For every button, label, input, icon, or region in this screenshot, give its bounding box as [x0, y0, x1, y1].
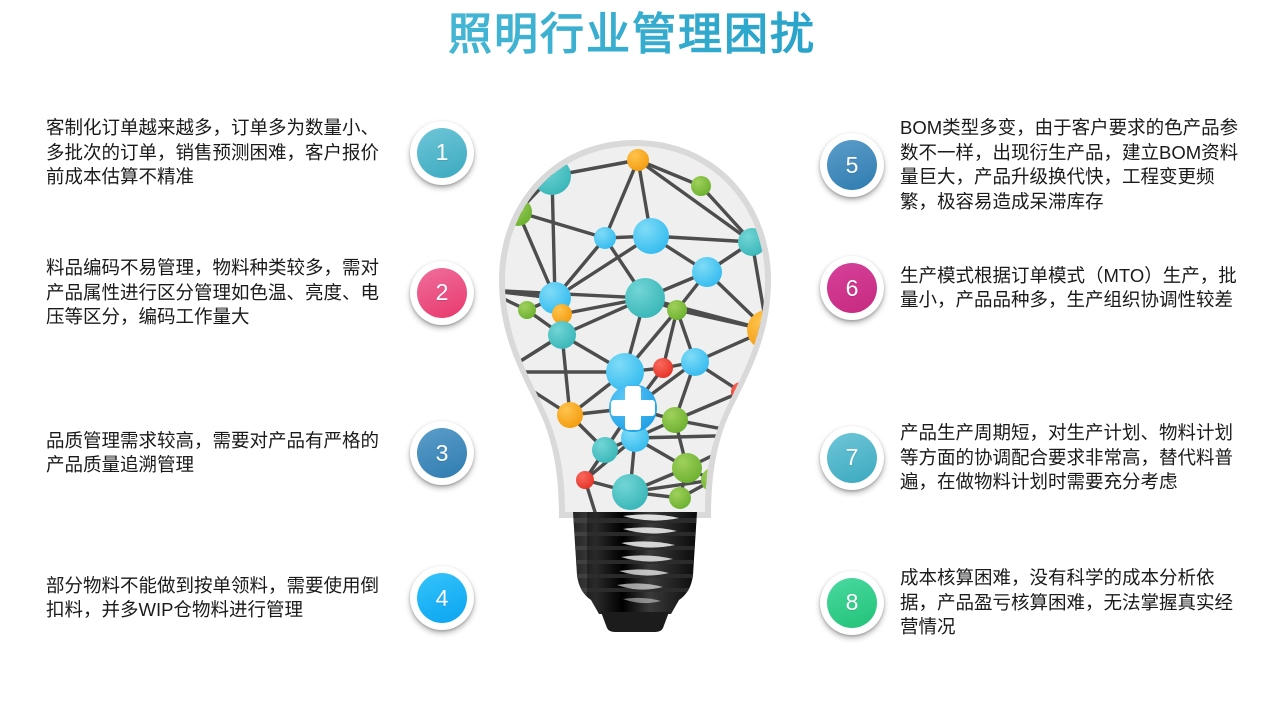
light-bulb-network-graphic — [455, 120, 815, 640]
issue-badge-wrap-2: 2 — [410, 261, 474, 325]
issue-number-label: 2 — [417, 268, 467, 318]
bulb-screw-base — [565, 512, 705, 632]
issue-text: 品质管理需求较高，需要对产品有严格的产品质量追溯管理 — [46, 429, 396, 478]
issue-text: 生产模式根据订单模式（MTO）生产，批量小，产品品种多，生产组织协调性较差 — [900, 264, 1250, 313]
issue-item-5[interactable]: 5BOM类型多变，由于客户要求的色产品参数不一样，出现衍生产品，建立BOM资料量… — [820, 116, 1250, 214]
issue-badge-wrap-1: 1 — [410, 121, 474, 185]
issue-badge-wrap-5: 5 — [820, 133, 884, 197]
issue-badge-wrap-8: 8 — [820, 571, 884, 635]
issue-item-2[interactable]: 2料品编码不易管理，物料种类较多，需对产品属性进行区分管理如色温、亮度、电压等区… — [46, 256, 476, 330]
issue-text: 产品生产周期短，对生产计划、物料计划等方面的协调配合要求非常高，替代料普遍，在做… — [900, 421, 1250, 495]
issue-number-badge[interactable]: 6 — [820, 256, 884, 320]
issue-number-badge[interactable]: 3 — [410, 421, 474, 485]
issue-number-badge[interactable]: 2 — [410, 261, 474, 325]
issue-text: 部分物料不能做到按单领料，需要使用倒扣料，并多WIP仓物料进行管理 — [46, 574, 396, 623]
plus-icon — [609, 384, 657, 432]
bulb-svg — [455, 120, 815, 640]
issue-text: 料品编码不易管理，物料种类较多，需对产品属性进行区分管理如色温、亮度、电压等区分… — [46, 256, 396, 330]
issue-item-3[interactable]: 3品质管理需求较高，需要对产品有严格的产品质量追溯管理 — [46, 421, 476, 485]
issue-item-7[interactable]: 7产品生产周期短，对生产计划、物料计划等方面的协调配合要求非常高，替代料普遍，在… — [820, 421, 1250, 495]
issue-number-label: 7 — [827, 433, 877, 483]
issue-number-label: 1 — [417, 128, 467, 178]
issue-number-label: 8 — [827, 578, 877, 628]
issue-text: 客制化订单越来越多，订单多为数量小、多批次的订单，销售预测困难，客户报价前成本估… — [46, 116, 396, 190]
issue-number-label: 4 — [417, 573, 467, 623]
issue-item-8[interactable]: 8成本核算困难，没有科学的成本分析依据，产品盈亏核算困难，无法掌握真实经营情况 — [820, 566, 1250, 640]
issue-number-label: 5 — [827, 140, 877, 190]
page-title: 照明行业管理困扰 — [0, 4, 1264, 66]
issue-text: 成本核算困难，没有科学的成本分析依据，产品盈亏核算困难，无法掌握真实经营情况 — [900, 566, 1250, 640]
issue-number-badge[interactable]: 1 — [410, 121, 474, 185]
issue-badge-wrap-3: 3 — [410, 421, 474, 485]
issue-text: BOM类型多变，由于客户要求的色产品参数不一样，出现衍生产品，建立BOM资料量巨… — [900, 116, 1250, 214]
issue-number-badge[interactable]: 4 — [410, 566, 474, 630]
issue-number-badge[interactable]: 7 — [820, 426, 884, 490]
issue-number-badge[interactable]: 5 — [820, 133, 884, 197]
issue-badge-wrap-7: 7 — [820, 426, 884, 490]
issue-badge-wrap-4: 4 — [410, 566, 474, 630]
issue-number-label: 6 — [827, 263, 877, 313]
issue-item-4[interactable]: 4部分物料不能做到按单领料，需要使用倒扣料，并多WIP仓物料进行管理 — [46, 566, 476, 630]
issue-number-label: 3 — [417, 428, 467, 478]
issue-item-6[interactable]: 6生产模式根据订单模式（MTO）生产，批量小，产品品种多，生产组织协调性较差 — [820, 256, 1250, 320]
issue-number-badge[interactable]: 8 — [820, 571, 884, 635]
issue-item-1[interactable]: 1客制化订单越来越多，订单多为数量小、多批次的订单，销售预测困难，客户报价前成本… — [46, 116, 476, 190]
issue-badge-wrap-6: 6 — [820, 256, 884, 320]
